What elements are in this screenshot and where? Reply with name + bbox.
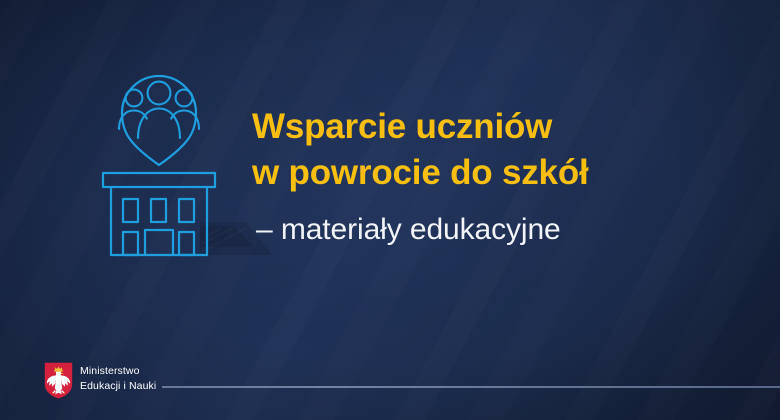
window-upper-centre bbox=[151, 199, 166, 222]
polish-eagle-crest-icon bbox=[44, 362, 73, 399]
person-head-centre bbox=[148, 82, 171, 105]
ministry-line-1: Ministerstwo bbox=[80, 364, 156, 379]
ministry-wordmark: Ministerstwo Edukacji i Nauki bbox=[80, 364, 156, 393]
window-upper-right bbox=[179, 199, 194, 222]
person-body-centre bbox=[138, 109, 180, 139]
ministry-line-2: Edukacji i Nauki bbox=[80, 379, 156, 394]
footer-divider bbox=[162, 386, 780, 388]
footer-bar: Ministerstwo Edukacji i Nauki bbox=[0, 352, 780, 420]
subtitle: – materiały edukacyjne bbox=[256, 210, 752, 250]
title-line-1: Wsparcie uczniów bbox=[252, 104, 752, 150]
building-door bbox=[145, 230, 173, 255]
title-line-2: w powrocie do szkół bbox=[252, 150, 752, 196]
person-head-right bbox=[176, 90, 193, 107]
window-lower-right bbox=[179, 232, 194, 255]
person-head-left bbox=[126, 90, 143, 107]
people-group bbox=[119, 82, 199, 138]
window-lower-left bbox=[123, 232, 138, 255]
window-upper-left bbox=[123, 199, 138, 222]
building-roof bbox=[103, 173, 215, 187]
school-building-icon bbox=[103, 173, 215, 255]
headline-block: Wsparcie uczniów w powrocie do szkół – m… bbox=[252, 104, 752, 250]
poster-canvas: Wsparcie uczniów w powrocie do szkół – m… bbox=[0, 0, 780, 420]
